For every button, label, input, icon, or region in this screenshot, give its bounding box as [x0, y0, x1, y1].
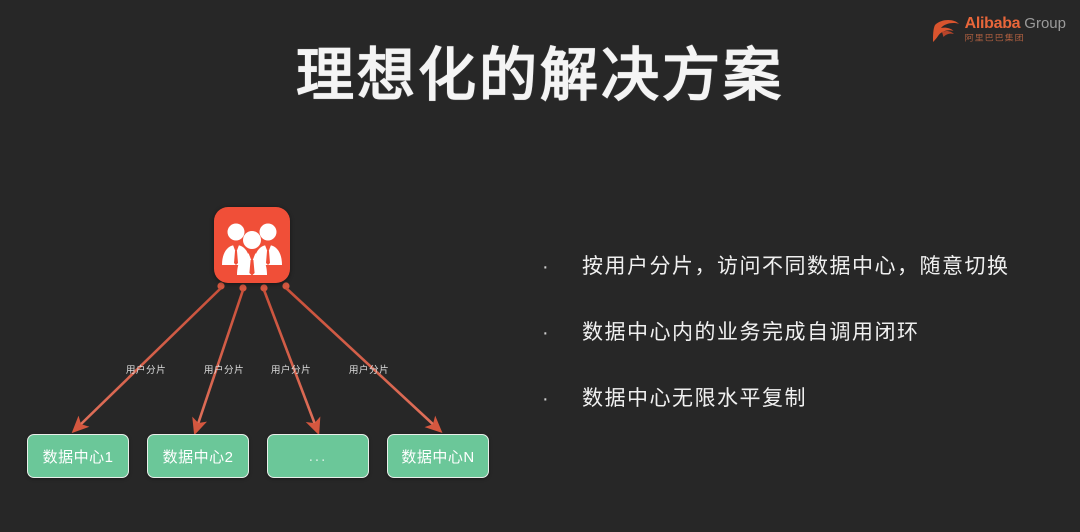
arrow-to-dc-3	[264, 290, 316, 427]
bullet-item-3: · 数据中心无限水平复制	[536, 384, 1076, 414]
edge-label-4: 用户分片	[349, 361, 389, 375]
data-center-box-1[interactable]: 数据中心1	[27, 434, 129, 478]
alibaba-logo-mark-icon	[932, 17, 962, 43]
bullet-marker-icon: ·	[536, 252, 582, 282]
logo-chinese-text: 阿里巴巴集团	[965, 34, 1025, 42]
logo-text: Alibaba Group 阿里巴巴集团	[965, 16, 1066, 43]
bullet-item-1: · 按用户分片，访问不同数据中心，随意切换	[536, 252, 1076, 282]
edge-label-2: 用户分片	[204, 361, 244, 375]
bullet-text-1: 按用户分片，访问不同数据中心，随意切换	[582, 252, 1010, 282]
arrow-to-dc-2	[197, 290, 243, 427]
bullet-list: · 按用户分片，访问不同数据中心，随意切换 · 数据中心内的业务完成自调用闭环 …	[536, 252, 1076, 414]
bullet-marker-icon: ·	[536, 318, 582, 348]
bullet-text-3: 数据中心无限水平复制	[582, 384, 807, 414]
slide-root: Alibaba Group 阿里巴巴集团 理想化的解决方案	[0, 0, 1080, 532]
bullet-item-2: · 数据中心内的业务完成自调用闭环	[536, 318, 1076, 348]
bullet-text-2: 数据中心内的业务完成自调用闭环	[582, 318, 920, 348]
data-center-box-ellipsis[interactable]: ...	[267, 434, 369, 478]
arrow-to-dc-1	[78, 288, 221, 427]
logo-brand-text: Alibaba	[965, 16, 1021, 32]
alibaba-group-logo: Alibaba Group 阿里巴巴集团	[932, 12, 1066, 46]
data-center-box-n[interactable]: 数据中心N	[387, 434, 489, 478]
bullet-marker-icon: ·	[536, 384, 582, 414]
edge-label-3: 用户分片	[271, 361, 311, 375]
data-center-box-2[interactable]: 数据中心2	[147, 434, 249, 478]
logo-suffix-text: Group	[1024, 16, 1066, 31]
edge-label-1: 用户分片	[126, 361, 166, 375]
users-group-icon	[214, 207, 290, 283]
